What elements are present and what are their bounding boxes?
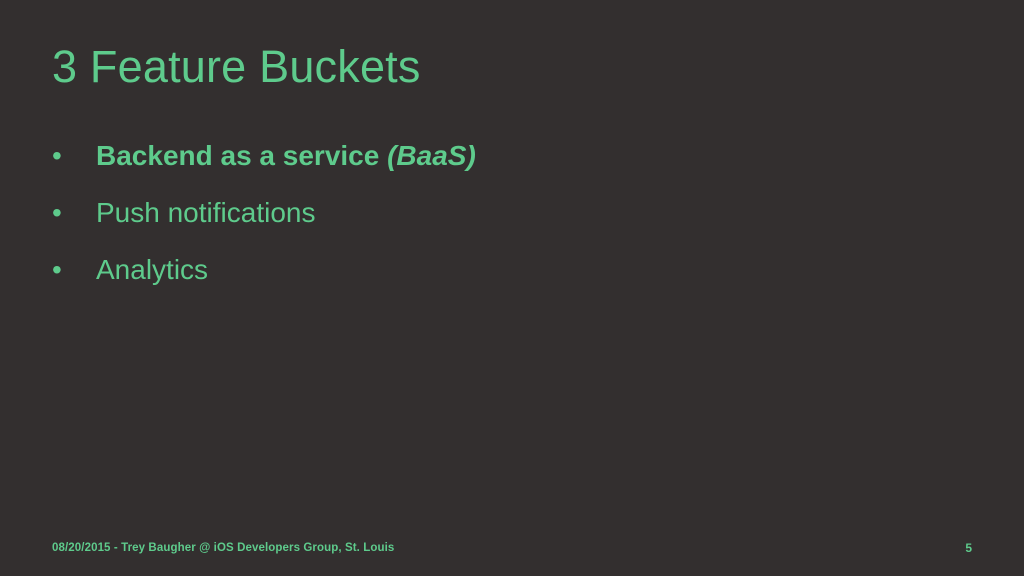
page-number: 5: [965, 541, 972, 555]
list-item-text: Analytics: [96, 254, 208, 285]
bullet-dot-icon: [52, 256, 96, 284]
list-item-text: Backend as a service: [96, 140, 387, 171]
list-item-label: Push notifications: [96, 195, 315, 230]
page-title: 3 Feature Buckets: [52, 42, 421, 92]
list-item-label: Analytics: [96, 252, 208, 287]
bullet-dot-icon: [52, 142, 96, 170]
list-item-suffix: (BaaS): [387, 140, 476, 171]
bullet-list: Backend as a service (BaaS) Push notific…: [52, 138, 952, 309]
bullet-dot-icon: [52, 199, 96, 227]
list-item: Analytics: [52, 252, 952, 287]
footer-attribution: 08/20/2015 - Trey Baugher @ iOS Develope…: [52, 542, 394, 554]
list-item-text: Push notifications: [96, 197, 315, 228]
slide-footer: 08/20/2015 - Trey Baugher @ iOS Develope…: [0, 520, 1024, 576]
slide: 3 Feature Buckets Backend as a service (…: [0, 0, 1024, 576]
list-item-label: Backend as a service (BaaS): [96, 138, 476, 173]
list-item: Push notifications: [52, 195, 952, 230]
list-item: Backend as a service (BaaS): [52, 138, 952, 173]
